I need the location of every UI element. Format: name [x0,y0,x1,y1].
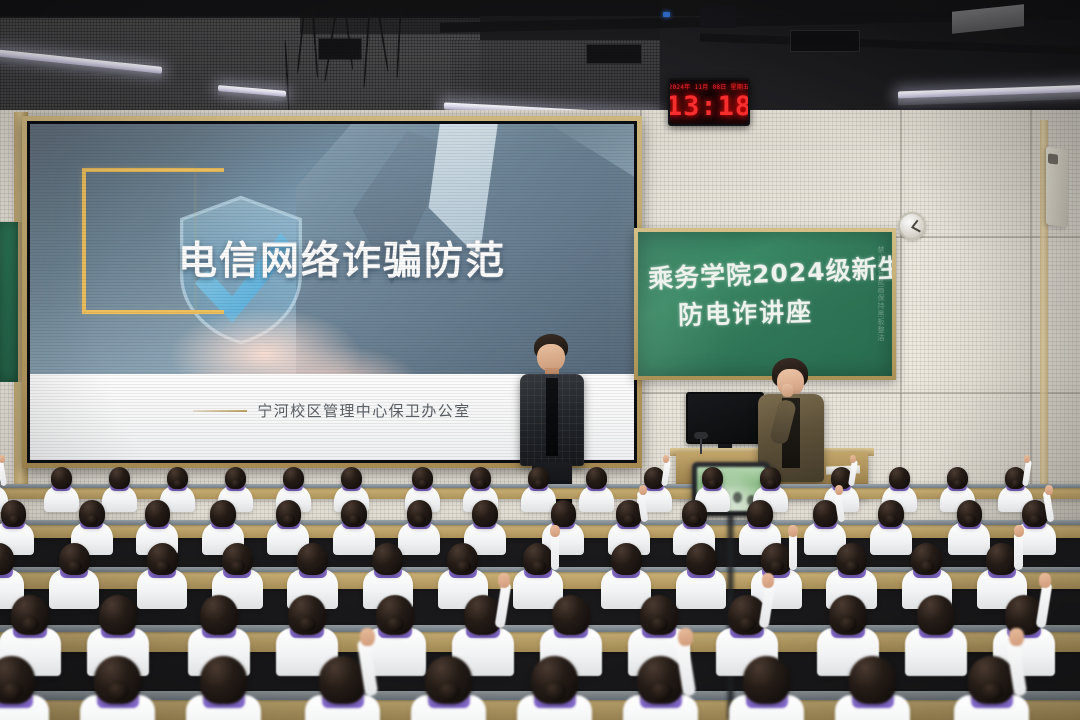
ceiling [0,0,1080,128]
student [86,656,160,720]
student-hand [639,485,647,495]
student-hair-bun [1011,479,1021,488]
student-head [472,500,498,527]
student [629,656,703,720]
student [311,656,385,720]
student-head [372,543,403,575]
led-clock-time: 13:18 [668,93,750,120]
student [841,656,915,720]
student-hair-bun [67,560,82,573]
ceiling-vent-3 [790,30,860,52]
student-hair-bun [963,514,975,525]
student-raised-arm [789,532,797,570]
analog-wall-clock [898,212,926,240]
slide-title: 电信网络诈骗防范 [178,230,506,286]
student-hand [1039,573,1051,588]
student-head [889,467,910,489]
screen-figure-3 [733,492,742,503]
student-hand [498,573,510,588]
student-hair-bun [418,479,428,488]
student-hair-bun [845,560,860,573]
student-hair-bun [456,560,471,573]
student-head [297,543,328,575]
blackboard-chalk-line-2: 防电诈讲座 [678,292,814,332]
student-head [319,656,365,704]
student-hair-bun [1,681,23,701]
student [417,656,491,720]
student-hair-bun [650,681,672,701]
student-raised-arm [1014,532,1022,570]
student-hand [788,525,798,537]
student-head [917,595,955,635]
student-head [283,467,304,489]
student-hand [762,573,774,588]
student-hair-bun [8,514,20,525]
student-head [986,543,1017,575]
blackboard-surface: 乘务学院2024级新生 防电诈讲座 禁止乱写乱画保持黑板整洁 [638,232,892,376]
student-head [586,467,607,489]
podium-mic-stand [700,438,702,454]
student-hair-bun [769,560,784,573]
student-hand [1024,455,1031,463]
student-hair-bun [953,479,963,488]
student [735,656,809,720]
student-raised-arm [551,532,559,570]
student-hair-bun [230,560,245,573]
student-head [747,500,773,527]
student-hand [1009,628,1024,646]
student-head [743,656,789,704]
student [960,656,1034,720]
ceiling-beam-left [300,4,480,34]
student-hand [850,455,857,463]
student-head [611,543,642,575]
ceiling-vent-1 [318,38,362,60]
student-head [210,500,236,527]
student-hair-bun [981,681,1003,701]
student-hair-bun [282,514,294,525]
student [523,656,597,720]
student-hair-bun [155,560,170,573]
student-head [686,543,717,575]
ceiling-vent-2 [586,44,642,64]
man-jacket-opening [546,378,558,456]
led-digital-clock: 2024年 11月 08日 星期五 13:18 [668,78,750,126]
student-head [813,500,839,527]
student-hair-bun [708,479,718,488]
student-hand [678,628,693,646]
lecture-hall-photo: 2024年 11月 08日 星期五 13:18 [0,0,1080,720]
student-head [551,500,577,527]
slide-footer-org: 宁河校区管理中心保卫办公室 [257,400,470,421]
student-head [552,595,590,635]
student-hair-bun [688,514,700,525]
wall-speaker-grill [1048,153,1058,164]
student-hair-bun [544,681,566,701]
student-hair-bun [173,479,183,488]
student-hand [1045,485,1053,495]
equipment-indicator-led [663,12,670,17]
student-head [109,467,130,489]
student-hair-bun [413,514,425,525]
student-hair-bun [766,479,776,488]
student-hand [663,455,670,463]
led-clock-date: 2024年 11月 08日 星期五 [669,85,750,91]
student-hand [835,485,843,495]
student-head [200,656,246,704]
student-head [145,500,171,527]
student-hair-bun [531,560,546,573]
student-head [51,467,72,489]
student-hair-bun [231,479,241,488]
student [192,656,266,720]
student-hair-bun [534,479,544,488]
student [0,656,54,720]
woman-hand [782,384,793,397]
student-head [849,656,895,704]
side-blackboard-left [0,222,22,382]
blackboard-faint-note: 禁止乱写乱画保持黑板整洁 [875,246,886,342]
student-hair-bun [107,681,129,701]
student-hair-bun [438,681,460,701]
student-hair-bun [476,479,486,488]
student-hand [550,525,560,537]
student-hand [1014,525,1024,537]
student-head [200,595,238,635]
student-head [341,467,362,489]
slide-footer-dash [193,410,247,412]
podium-mic-head [694,432,708,439]
projector-mount [700,6,736,28]
student-head [99,595,137,635]
student-audience [0,470,1080,720]
student-hand [360,628,375,646]
